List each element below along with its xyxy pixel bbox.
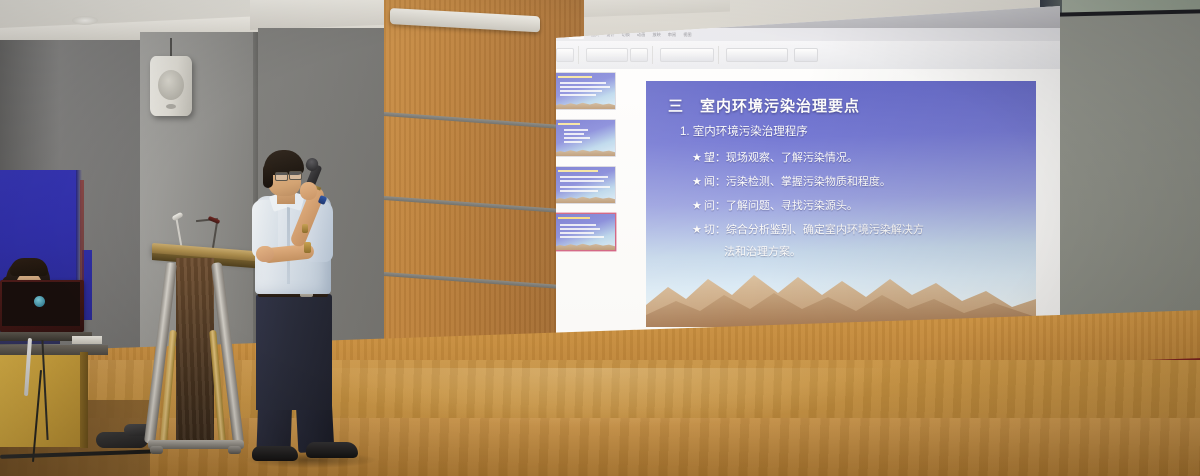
slide-thumbnail-selected[interactable] xyxy=(555,214,615,250)
thumbnail-text-line xyxy=(560,236,604,238)
presenter-shoe-left xyxy=(252,446,298,461)
thumbnail-title-bar xyxy=(558,76,592,78)
lectern-foot-right xyxy=(228,446,241,454)
star-bullet-icon: ★ xyxy=(692,152,702,164)
thumbnail-text-line xyxy=(560,90,602,92)
slide-bullet-2: ★闻：污染检测、掌握污染物质和程度。 xyxy=(692,173,891,189)
thumbnail-text-line xyxy=(564,137,590,139)
slide-canvas-area[interactable]: 三 室内环境污染治理要点 1. 室内环境污染治理程序 ★望：现场观察、了解污染情… xyxy=(622,71,1058,345)
bullet-label: 闻： xyxy=(704,176,726,188)
ppt-workspace: 三 室内环境污染治理要点 1. 室内环境污染治理程序 ★望：现场观察、了解污染情… xyxy=(548,69,1060,347)
presenter-hand-left xyxy=(256,246,274,262)
presenter-bracelet xyxy=(302,224,308,233)
lectern-front-panel xyxy=(176,258,214,446)
eyeglasses-lens-right xyxy=(289,171,302,180)
thumbnail-mountain-graphic xyxy=(555,147,615,156)
operator-fringe xyxy=(10,258,48,276)
thumbnail-text-line xyxy=(564,129,588,131)
slide-title: 三 室内环境污染治理要点 xyxy=(668,95,860,116)
desk-side-edge xyxy=(80,352,88,448)
lecture-hall-photo: 文件 开始 插入 设计 切换 动画 放映 审阅 视图 xyxy=(0,0,1200,476)
bullet-text: 污染检测、掌握污染物质和程度。 xyxy=(726,176,891,188)
thumbnail-text-line xyxy=(560,94,596,96)
ribbon-tab-view[interactable]: 视图 xyxy=(683,32,691,38)
thumbnail-mountain-graphic xyxy=(555,100,615,109)
thumbnail-text-line xyxy=(560,86,610,88)
desk-papers xyxy=(72,336,102,344)
star-bullet-icon: ★ xyxy=(692,200,702,212)
ppt-ribbon xyxy=(548,41,1060,70)
ribbon-font-box[interactable] xyxy=(586,48,628,62)
thumbnail-text-line xyxy=(560,176,608,178)
slide-subtitle: 1. 室内环境污染治理程序 xyxy=(680,123,808,139)
star-bullet-icon: ★ xyxy=(692,224,702,236)
ribbon-fontsize-box[interactable] xyxy=(630,48,648,62)
bullet-text: 现场观察、了解污染情况。 xyxy=(726,152,858,164)
thumbnail-text-line xyxy=(560,186,610,188)
speaker-cable xyxy=(170,38,172,58)
thumbnail-mountain-graphic xyxy=(555,241,615,250)
thumbnail-mountain-graphic xyxy=(555,194,615,203)
bullet-label: 切： xyxy=(704,224,726,236)
speaker-port xyxy=(166,104,176,109)
bullet-label: 问： xyxy=(704,200,726,212)
star-bullet-icon: ★ xyxy=(692,176,702,188)
ribbon-drawing-group[interactable] xyxy=(726,48,788,62)
ribbon-tab-review[interactable]: 审阅 xyxy=(668,32,676,38)
presenter-shoe-right xyxy=(306,442,358,458)
thumbnail-text-line xyxy=(560,180,604,182)
ceiling-downlight xyxy=(72,16,98,25)
thumbnail-text-line xyxy=(564,141,582,143)
presenter-watch xyxy=(304,242,311,253)
slide-thumbnail[interactable] xyxy=(555,120,615,156)
ribbon-paste-button[interactable] xyxy=(556,48,574,62)
bullet-text: 综合分析鉴别、确定室内环境污染解决方 xyxy=(726,224,924,236)
ribbon-editing-group[interactable] xyxy=(794,48,818,62)
thumbnail-text-line xyxy=(560,82,606,84)
bullet-label: 望： xyxy=(704,152,726,164)
ribbon-group-divider xyxy=(578,46,579,64)
current-slide[interactable]: 三 室内环境污染治理要点 1. 室内环境污染治理程序 ★望：现场观察、了解污染情… xyxy=(646,81,1036,327)
lectern-foot-left xyxy=(150,446,163,454)
floor-light-reflection xyxy=(300,368,900,428)
speaker-cone xyxy=(158,70,184,100)
presenter-trousers xyxy=(256,294,332,410)
eyeglasses-bridge xyxy=(286,174,290,175)
thumbnail-title-bar xyxy=(558,217,590,219)
thumbnail-text-line xyxy=(564,133,584,135)
thumbnail-title-bar xyxy=(558,170,598,172)
ribbon-paragraph-group[interactable] xyxy=(660,48,714,62)
thumbnail-text-line xyxy=(560,232,594,234)
thumbnail-text-line xyxy=(560,224,596,226)
ribbon-group-divider xyxy=(652,46,653,64)
laptop-logo-icon xyxy=(34,296,45,307)
thumbnail-title-bar xyxy=(558,123,580,125)
desk-top-surface xyxy=(0,345,108,355)
desk-front-panel xyxy=(0,355,82,447)
slide-bullet-continuation: 法和治理方案。 xyxy=(724,243,801,259)
slide-bullet-1: ★望：现场观察、了解污染情况。 xyxy=(692,149,858,165)
ribbon-tab-slideshow[interactable]: 放映 xyxy=(652,32,660,38)
presenter-sideburn xyxy=(263,164,273,188)
slide-bullet-4: ★切：综合分析鉴别、确定室内环境污染解决方 xyxy=(692,221,924,237)
slide-thumbnail[interactable] xyxy=(555,73,615,109)
ribbon-group-divider xyxy=(718,46,719,64)
slide-thumbnail[interactable] xyxy=(555,167,615,203)
slide-thumbnail-rail[interactable] xyxy=(550,69,618,351)
thumbnail-text-line xyxy=(560,190,598,192)
bullet-text: 了解问题、寻找污染源头。 xyxy=(726,200,858,212)
thumbnail-text-line xyxy=(560,228,600,230)
slide-bullet-3: ★问：了解问题、寻找污染源头。 xyxy=(692,197,858,213)
presenter-hand-right xyxy=(300,182,317,200)
